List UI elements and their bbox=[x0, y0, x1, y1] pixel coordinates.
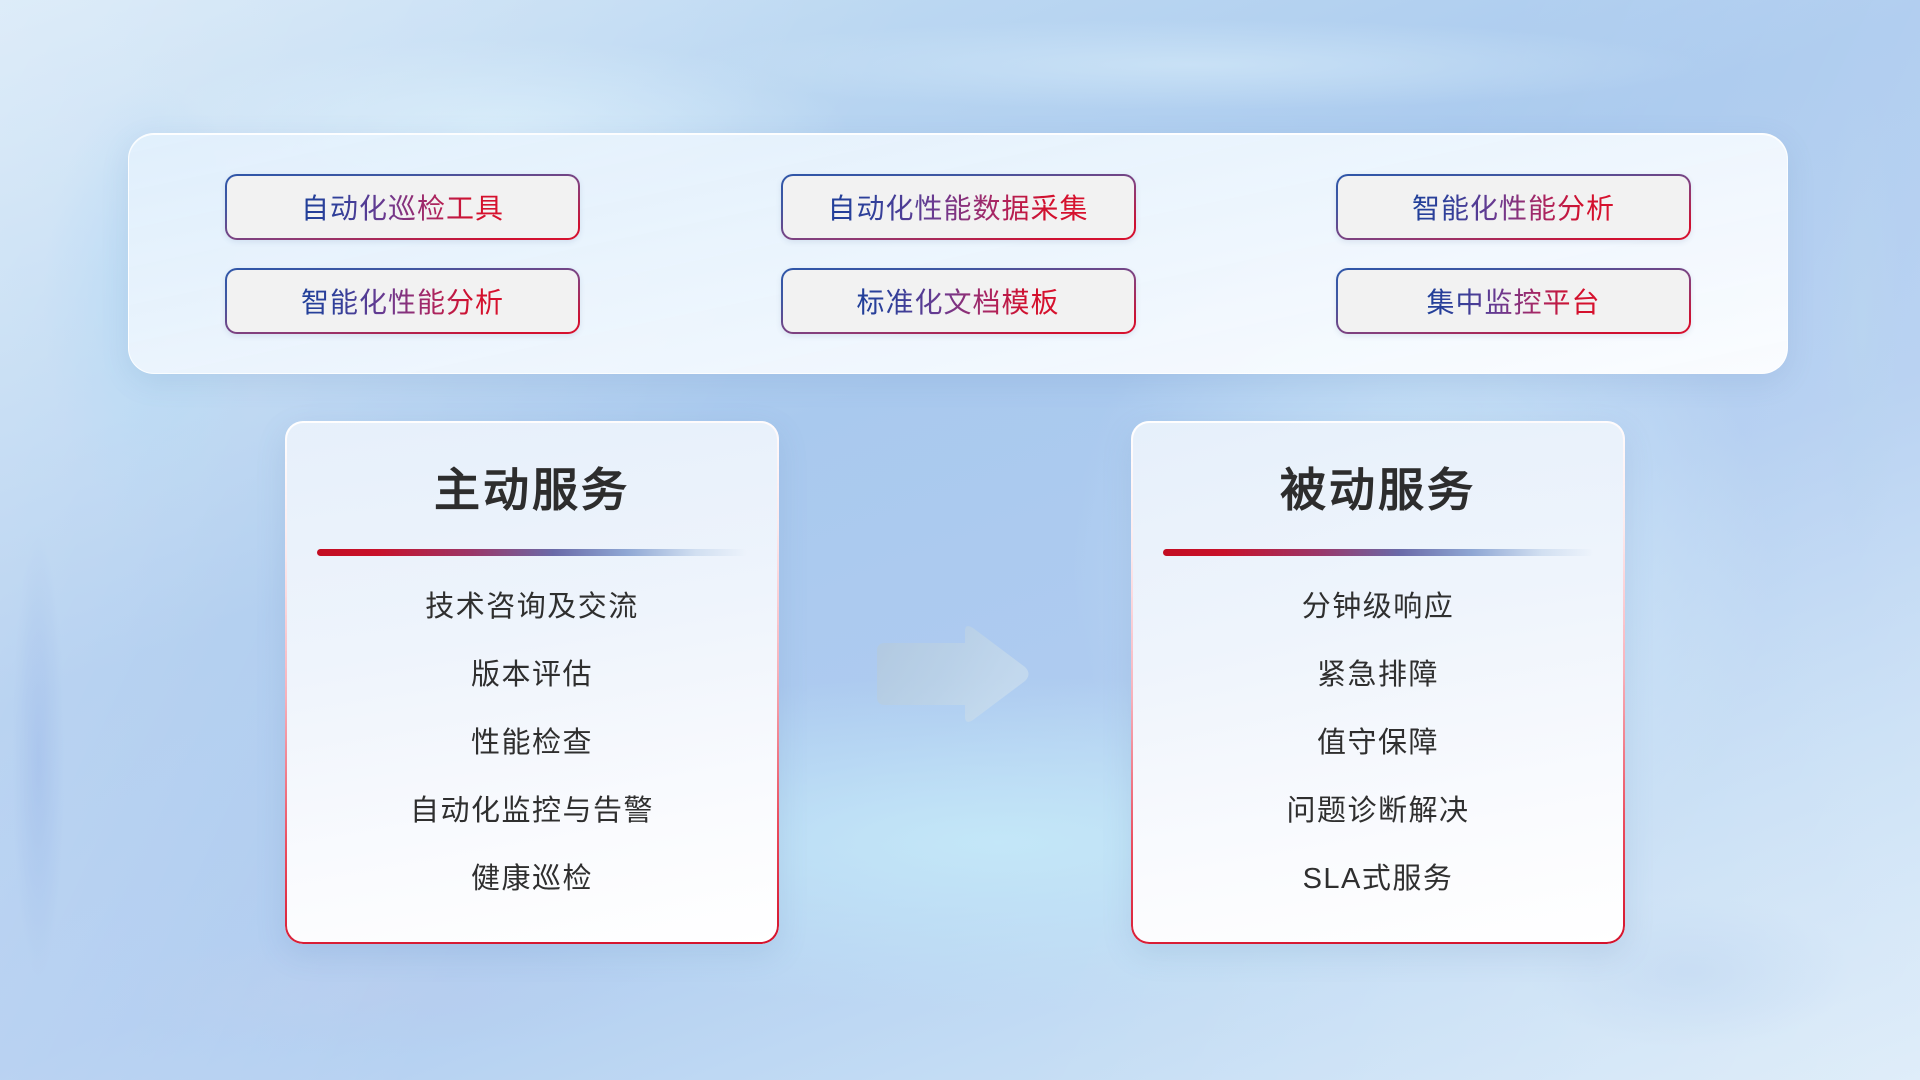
tool-pill-label: 智能化性能分析 bbox=[1412, 187, 1615, 227]
tools-row-1: 自动化巡检工具 自动化性能数据采集 智能化性能分析 bbox=[225, 174, 1691, 240]
card-divider bbox=[1163, 549, 1593, 556]
tool-pill-inner: 智能化性能分析 bbox=[1338, 176, 1689, 238]
card-title: 主动服务 bbox=[434, 467, 630, 513]
tool-pill-label: 智能化性能分析 bbox=[301, 281, 504, 321]
tool-pill-label: 标准化文档模板 bbox=[856, 281, 1059, 321]
list-item: 版本评估 bbox=[471, 660, 593, 692]
list-item: 技术咨询及交流 bbox=[425, 592, 639, 624]
tool-pill-label: 集中监控平台 bbox=[1426, 281, 1600, 321]
tool-pill-inner: 标准化文档模板 bbox=[783, 270, 1134, 332]
card-item-list: 分钟级响应 紧急排障 值守保障 问题诊断解决 SLA式服务 bbox=[1157, 592, 1599, 895]
diagram-stage: 自动化巡检工具 自动化性能数据采集 智能化性能分析 智能化性能分析 bbox=[0, 0, 1920, 1080]
list-item: SLA式服务 bbox=[1303, 864, 1454, 896]
service-card-reactive: 被动服务 分钟级响应 紧急排障 值守保障 问题诊断解决 SLA式服务 bbox=[1131, 421, 1625, 944]
tool-pill-performance-collection[interactable]: 自动化性能数据采集 bbox=[781, 174, 1136, 240]
tool-pill-label: 自动化巡检工具 bbox=[301, 187, 504, 227]
list-item: 值守保障 bbox=[1317, 728, 1439, 760]
card-title: 被动服务 bbox=[1280, 467, 1476, 513]
tool-pill-inner: 自动化巡检工具 bbox=[227, 176, 578, 238]
arrow-right-icon bbox=[869, 623, 1033, 727]
list-item: 紧急排障 bbox=[1317, 660, 1439, 692]
card-item-list: 技术咨询及交流 版本评估 性能检查 自动化监控与告警 健康巡检 bbox=[311, 592, 753, 895]
tool-pill-central-monitoring[interactable]: 集中监控平台 bbox=[1336, 268, 1691, 334]
tools-panel: 自动化巡检工具 自动化性能数据采集 智能化性能分析 智能化性能分析 bbox=[128, 133, 1788, 374]
tool-pill-inner: 自动化性能数据采集 bbox=[783, 176, 1134, 238]
tool-pill-intelligent-analysis[interactable]: 智能化性能分析 bbox=[1336, 174, 1691, 240]
list-item: 分钟级响应 bbox=[1302, 592, 1455, 624]
tool-pill-intelligent-analysis-2[interactable]: 智能化性能分析 bbox=[225, 268, 580, 334]
list-item: 问题诊断解决 bbox=[1286, 796, 1469, 828]
tool-pill-automation-inspection[interactable]: 自动化巡检工具 bbox=[225, 174, 580, 240]
tool-pill-standard-doc-template[interactable]: 标准化文档模板 bbox=[781, 268, 1136, 334]
list-item: 性能检查 bbox=[471, 728, 593, 760]
tools-row-2: 智能化性能分析 标准化文档模板 集中监控平台 bbox=[225, 268, 1691, 334]
tool-pill-inner: 智能化性能分析 bbox=[227, 270, 578, 332]
tool-pill-inner: 集中监控平台 bbox=[1338, 270, 1689, 332]
card-divider bbox=[317, 549, 747, 556]
service-card-proactive: 主动服务 技术咨询及交流 版本评估 性能检查 自动化监控与告警 健康巡检 bbox=[285, 421, 779, 944]
list-item: 自动化监控与告警 bbox=[410, 796, 654, 828]
list-item: 健康巡检 bbox=[471, 864, 593, 896]
tool-pill-label: 自动化性能数据采集 bbox=[827, 187, 1088, 227]
